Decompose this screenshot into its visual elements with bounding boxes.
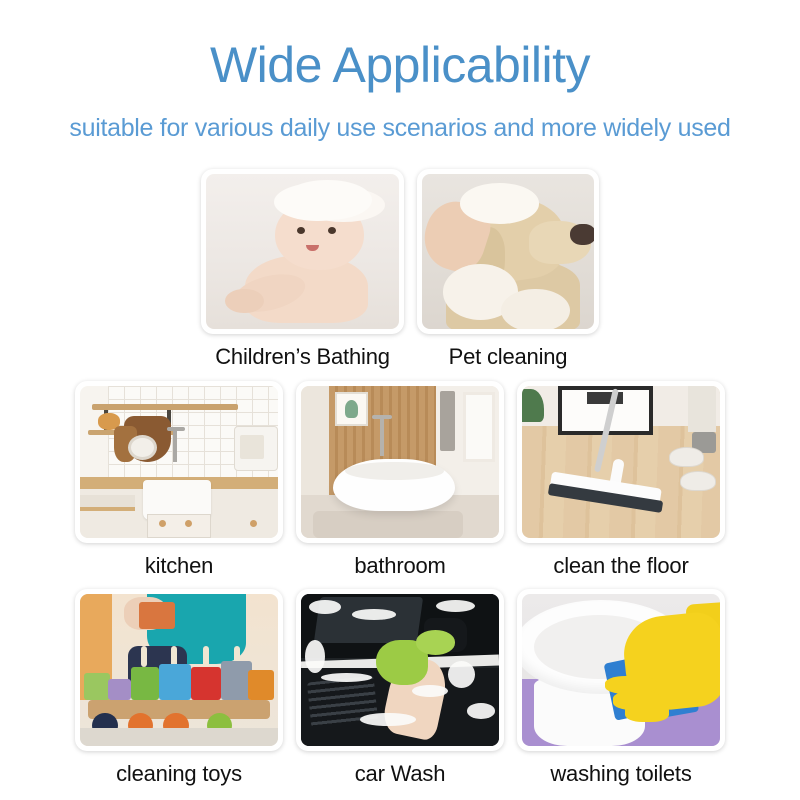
scenario-caption: car Wash [355, 751, 446, 785]
card-frame [75, 589, 283, 751]
card-frame [417, 169, 599, 334]
scenario-card-pet-cleaning[interactable]: Pet cleaning [417, 169, 599, 368]
scenario-card-car-wash[interactable]: car Wash [296, 589, 504, 785]
scenario-card-kitchen[interactable]: kitchen [75, 381, 283, 577]
card-frame [201, 169, 404, 334]
scenario-card-washing-toilets[interactable]: washing toilets [517, 589, 725, 785]
card-frame [296, 381, 504, 543]
card-frame [517, 589, 725, 751]
pet-cleaning-photo [422, 174, 594, 329]
card-frame [296, 589, 504, 751]
scenario-card-children-bathing[interactable]: Children’s Bathing [201, 169, 404, 368]
scenario-card-clean-the-floor[interactable]: clean the floor [517, 381, 725, 577]
scenario-row-2: kitchen [0, 381, 800, 577]
scenario-caption: washing toilets [550, 751, 691, 785]
card-frame [75, 381, 283, 543]
scenario-caption: kitchen [145, 543, 213, 577]
scenario-caption: Children’s Bathing [215, 334, 390, 368]
scenario-caption: clean the floor [553, 543, 688, 577]
card-frame [517, 381, 725, 543]
cleaning-toys-photo [80, 594, 278, 746]
infographic-page: Wide Applicability suitable for various … [0, 0, 800, 800]
baby-bathing-photo [206, 174, 399, 329]
scenario-caption: Pet cleaning [449, 334, 568, 368]
scenario-caption: bathroom [354, 543, 445, 577]
car-wash-photo [301, 594, 499, 746]
scenario-row-1: Children’s Bathing [0, 169, 800, 368]
page-subtitle: suitable for various daily use scenarios… [0, 90, 800, 141]
page-title: Wide Applicability [0, 0, 800, 90]
washing-toilets-photo [522, 594, 720, 746]
scenario-card-cleaning-toys[interactable]: cleaning toys [75, 589, 283, 785]
bathroom-photo [301, 386, 499, 538]
scenario-row-3: cleaning toys [0, 589, 800, 785]
kitchen-photo [80, 386, 278, 538]
scenario-card-bathroom[interactable]: bathroom [296, 381, 504, 577]
scenario-caption: cleaning toys [116, 751, 242, 785]
clean-floor-photo [522, 386, 720, 538]
